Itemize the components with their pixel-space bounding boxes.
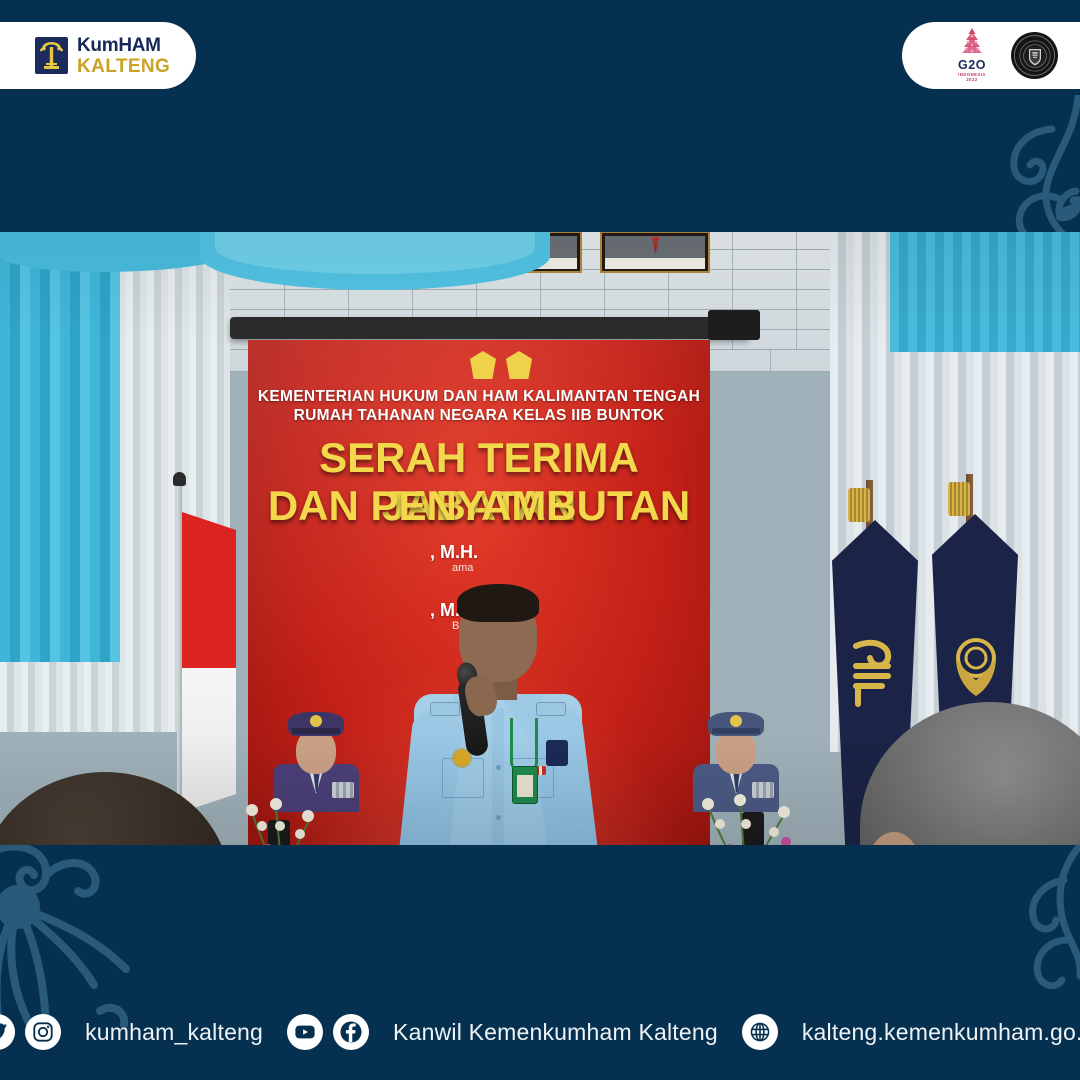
website-url: kalteng.kemenkumham.go.id — [802, 1019, 1080, 1046]
footer-bar: kumham_kalteng Kanwil Kemenkumham Kalten… — [0, 984, 1080, 1080]
social-group-page: Kanwil Kemenkumham Kalteng — [287, 1014, 742, 1050]
website-group: kalteng.kemenkumham.go.id — [742, 1014, 1080, 1050]
ministry-seal-icon — [1011, 32, 1058, 79]
facebook-icon[interactable] — [333, 1014, 369, 1050]
facebook-page-name: Kanwil Kemenkumham Kalteng — [393, 1019, 718, 1046]
ornament-bottom-right-icon — [964, 840, 1080, 1000]
social-handle: kumham_kalteng — [85, 1019, 263, 1046]
instagram-icon[interactable] — [25, 1014, 61, 1050]
brand-logo-pill[interactable]: KumHAM KALTENG — [0, 22, 196, 89]
event-photo: KEMENTERIAN HUKUM DAN HAM KALIMANTAN TEN… — [0, 232, 1080, 845]
g20-ornament-icon — [958, 28, 986, 58]
photo-vignette — [0, 232, 1080, 845]
header-bar: KumHAM KALTENG G2O — [0, 0, 1080, 232]
g20-logo: G2O INDONESIA 2022 — [947, 28, 997, 83]
brand-line-2: KALTENG — [77, 57, 170, 76]
brand-line-1: KumHAM — [77, 36, 170, 55]
g20-label: G2O — [958, 59, 986, 72]
kumham-tree-emblem-icon — [35, 37, 68, 74]
globe-icon[interactable] — [742, 1014, 778, 1050]
youtube-icon[interactable] — [287, 1014, 323, 1050]
g20-year: 2022 — [966, 77, 977, 83]
social-group-handle: kumham_kalteng — [0, 1014, 287, 1050]
twitter-icon[interactable] — [0, 1014, 15, 1050]
badge-pill[interactable]: G2O INDONESIA 2022 — [902, 22, 1080, 89]
